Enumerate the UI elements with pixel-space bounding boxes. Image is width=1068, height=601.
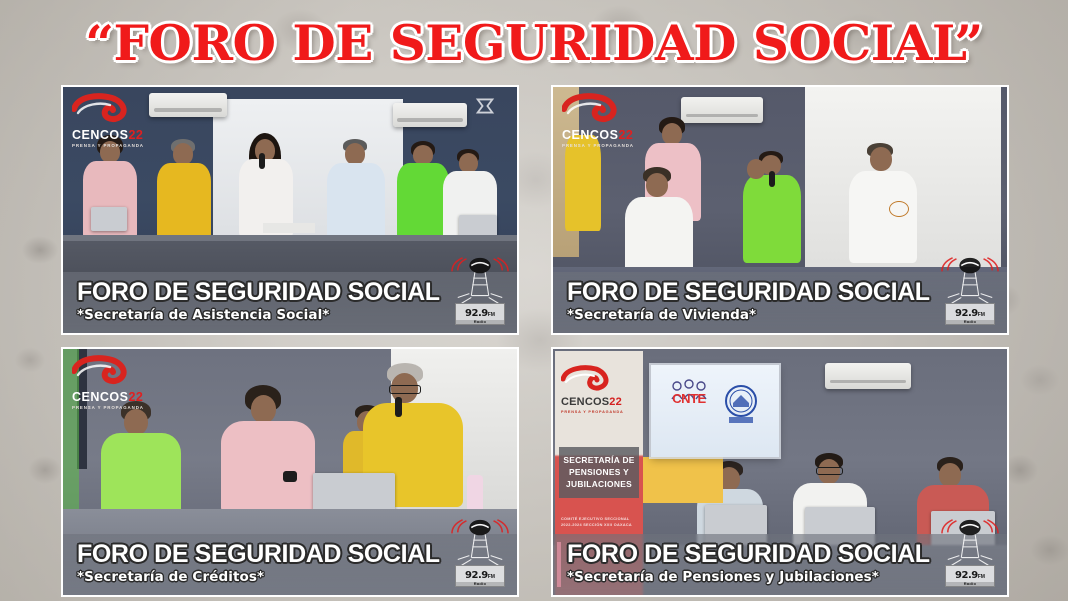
panel-creditos[interactable]: CENCOS22 PRENSA Y PROPAGANDA FORO DE SEG…: [61, 347, 519, 597]
caption-title: FORO DE SEGURIDAD SOCIAL: [77, 542, 505, 568]
caption-subtitle: *Secretaría de Asistencia Social*: [77, 308, 505, 323]
caption-title: FORO DE SEGURIDAD SOCIAL: [77, 280, 505, 306]
cencos-wave-icon: [561, 365, 615, 391]
banner-cencos-tagline: PRENSA Y PROPAGANDA: [561, 410, 637, 414]
panel-1-caption: FORO DE SEGURIDAD SOCIAL *Secretaría de …: [63, 272, 517, 333]
panel-asistencia-social[interactable]: CENCOS22 PRENSA Y PROPAGANDA FORO DE SEG…: [61, 85, 519, 335]
caption-accent-bar: [557, 542, 561, 587]
caption-title: FORO DE SEGURIDAD SOCIAL: [567, 280, 995, 306]
snte-seal-icon: [719, 383, 763, 429]
caption-title: FORO DE SEGURIDAD SOCIAL: [567, 542, 995, 568]
banner-cencos-name: CENCOS: [561, 396, 609, 408]
projector-screen: CNTE: [651, 365, 779, 457]
page-title-bar: “FORO DE SEGURIDAD SOCIAL”: [0, 14, 1068, 72]
caption-subtitle: *Secretaría de Vivienda*: [567, 308, 995, 323]
panel-4-caption: FORO DE SEGURIDAD SOCIAL *Secretaría de …: [553, 534, 1007, 595]
banner-cencos-logo: CENCOS22 PRENSA Y PROPAGANDA: [561, 365, 637, 414]
microphone-icon: [259, 153, 265, 169]
caption-subtitle: *Secretaría de Créditos*: [77, 570, 505, 585]
microphone-icon: [769, 171, 775, 187]
panel-2-caption: FORO DE SEGURIDAD SOCIAL *Secretaría de …: [553, 272, 1007, 333]
banner-footer: COMITÉ EJECUTIVO SECCIONAL 2022-2024 SEC…: [561, 517, 639, 529]
banner-cencos-number: 22: [609, 396, 622, 408]
panel-grid: CENCOS22 PRENSA Y PROPAGANDA FORO DE SEG…: [0, 0, 1068, 601]
page-title: “FORO DE SEGURIDAD SOCIAL”: [85, 14, 983, 72]
microphone-icon: [395, 397, 402, 417]
panel-vivienda[interactable]: CENCOS22 PRENSA Y PROPAGANDA FORO DE SEG…: [551, 85, 1009, 335]
panel-3-caption: FORO DE SEGURIDAD SOCIAL *Secretaría de …: [63, 534, 517, 595]
caption-subtitle: *Secretaría de Pensiones y Jubilaciones*: [567, 570, 995, 585]
cnte-logo-text: CNTE: [667, 391, 711, 406]
panel-pensiones-jubilaciones[interactable]: CENCOS22 PRENSA Y PROPAGANDA SECRETARÍA …: [551, 347, 1009, 597]
banner-title: SECRETARÍA DE PENSIONES Y JUBILACIONES: [559, 447, 639, 498]
